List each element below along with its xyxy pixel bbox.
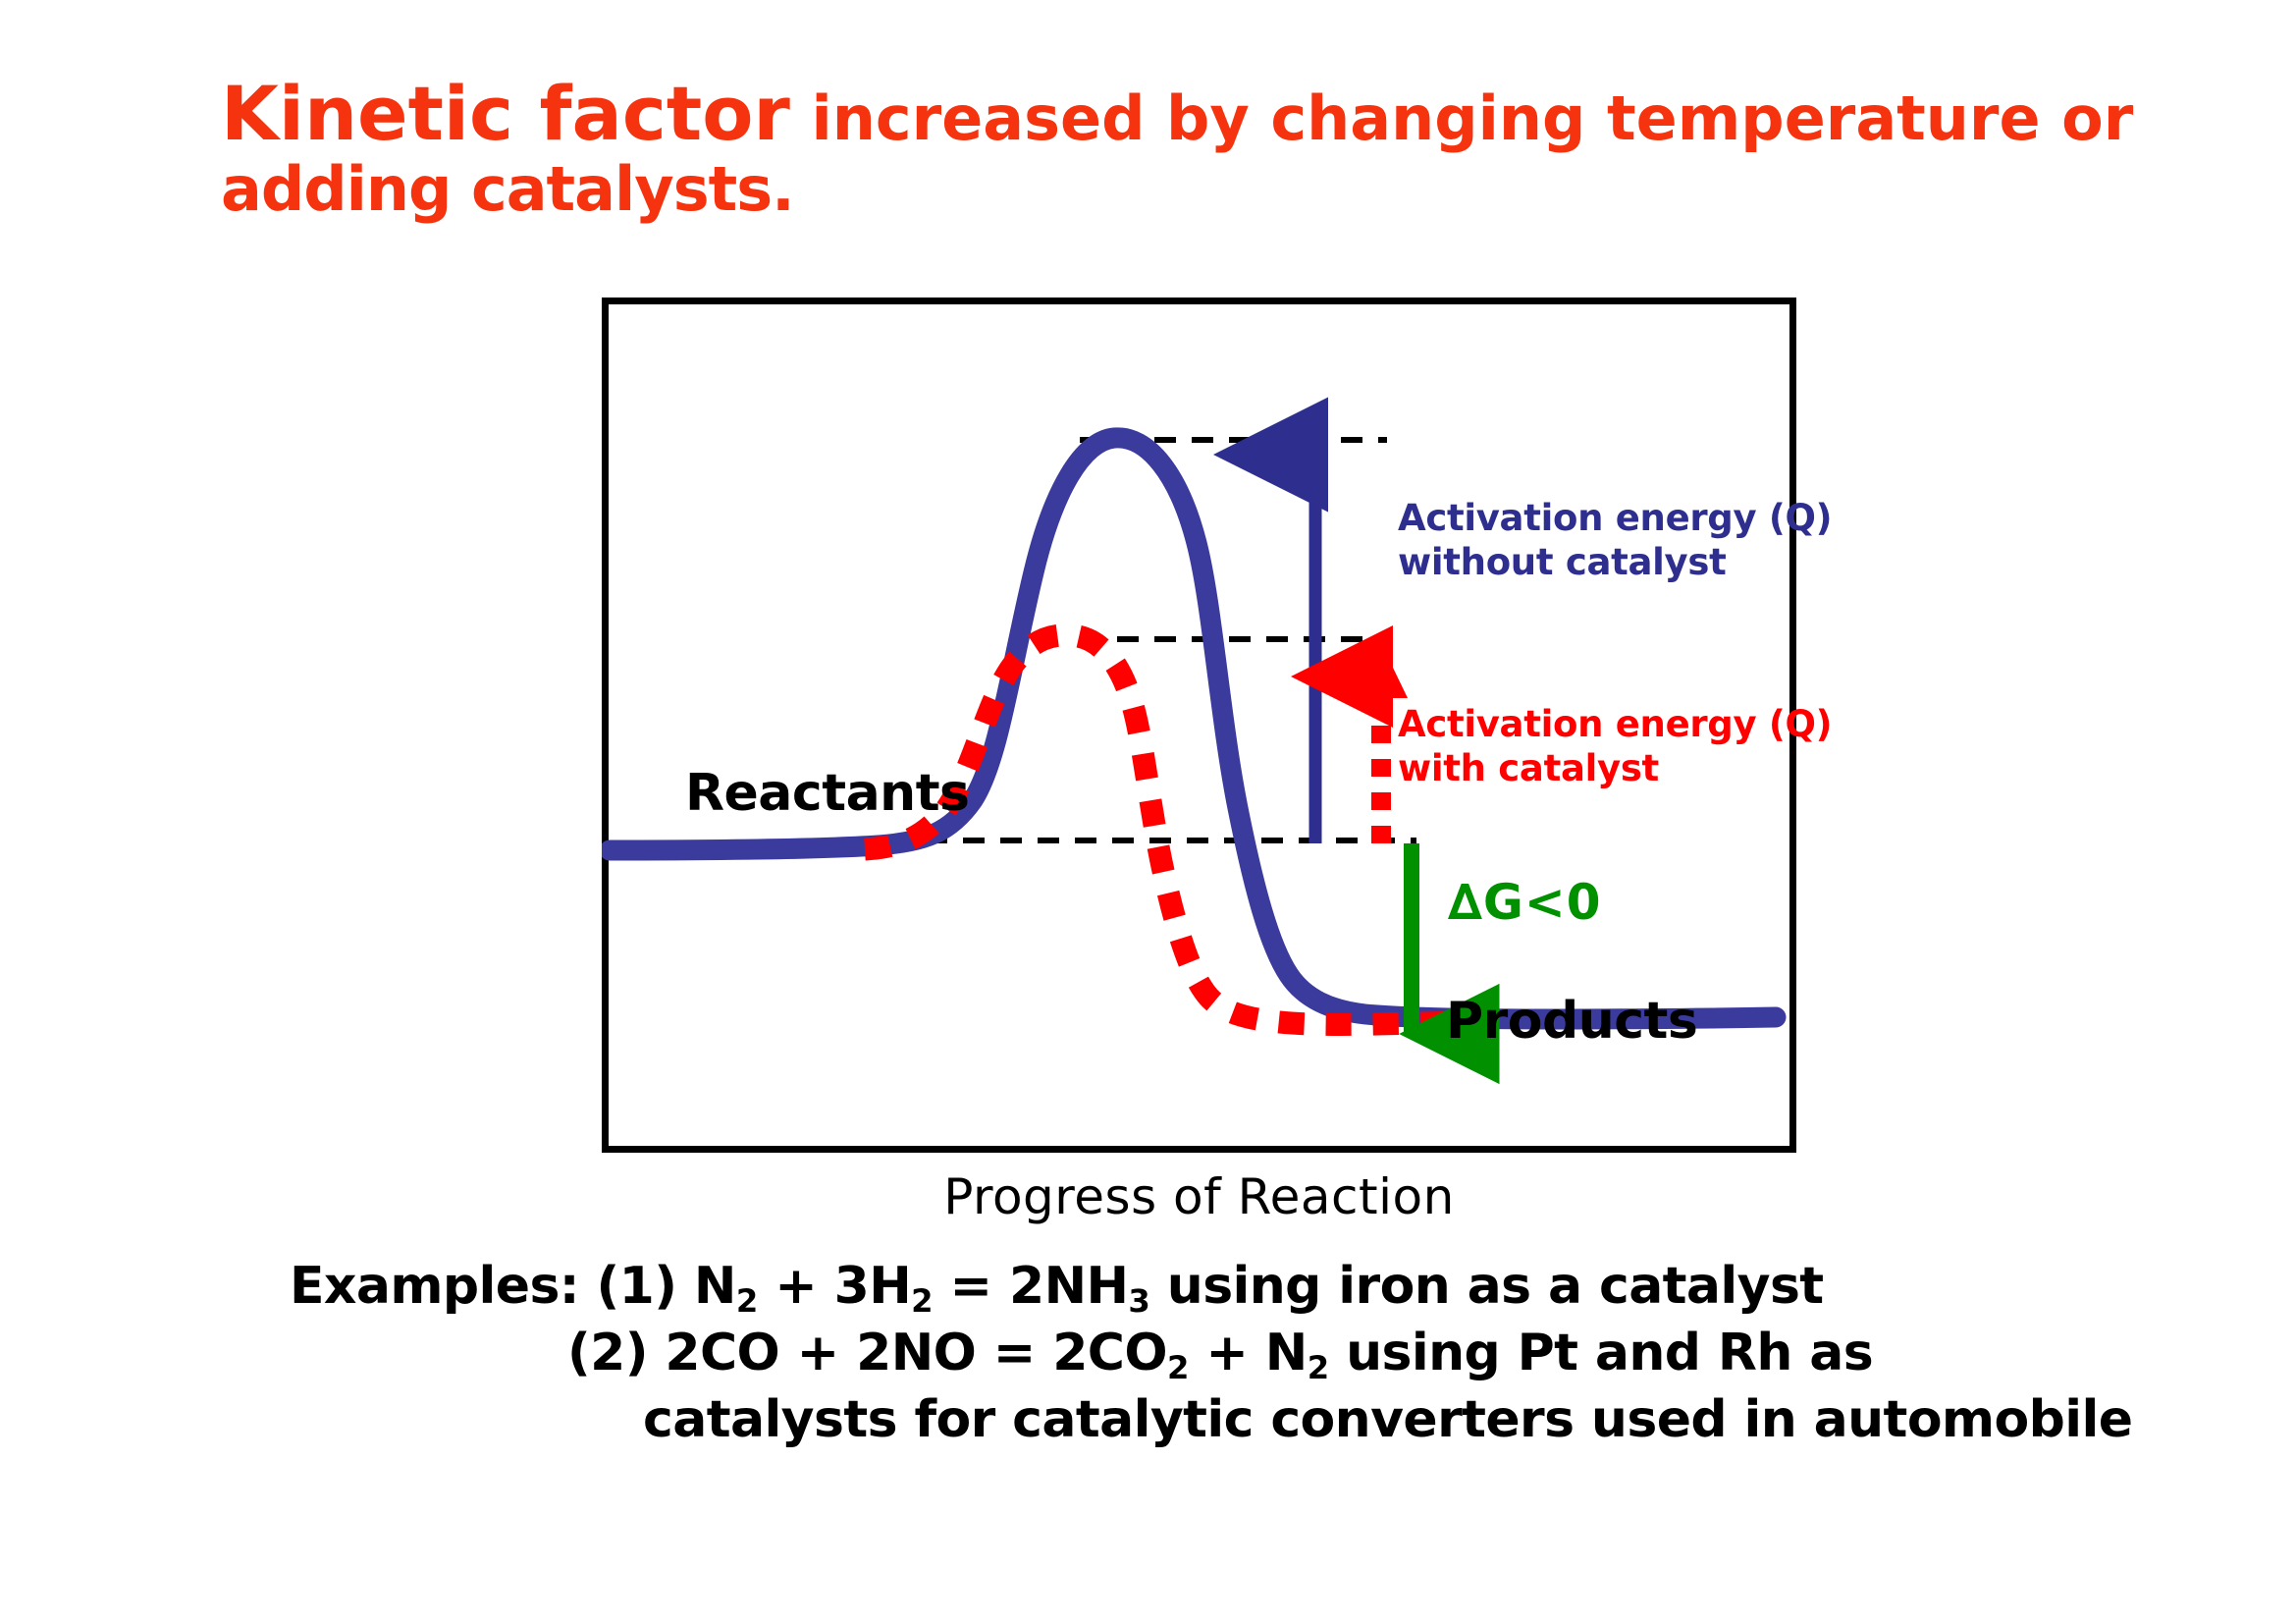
ex1-sub3: 3 <box>1128 1282 1149 1320</box>
ex2-sub2: 2 <box>1308 1349 1329 1386</box>
example-line-3: catalysts for catalytic converters used … <box>0 1388 2296 1451</box>
ex2-sub1: 2 <box>1167 1349 1189 1386</box>
reactants-label: Reactants <box>685 764 970 823</box>
delta-g-label: ∆G<0 <box>1448 874 1602 931</box>
ex1-mid1: + 3H <box>758 1257 911 1316</box>
ex1-mid2: = 2NH <box>933 1257 1128 1316</box>
ex2-mid: + N <box>1189 1324 1308 1382</box>
title-line-1: Kinetic factor increased by changing tem… <box>221 77 2145 151</box>
title-emphasis: Kinetic factor <box>221 70 790 157</box>
products-label: Products <box>1446 992 1697 1051</box>
anno-red-line2: with catalyst <box>1398 746 1832 790</box>
ex1-sub1: 2 <box>736 1282 758 1320</box>
ex2-post: using Pt and Rh as <box>1329 1324 1874 1382</box>
title-line-2: adding catalysts. <box>221 159 2145 220</box>
ex1-post: using iron as a catalyst <box>1149 1257 1823 1316</box>
activation-energy-no-catalyst-label: Activation energy (Q) without catalyst <box>1398 496 1832 584</box>
examples-block: Examples: (1) N2 + 3H2 = 2NH3 using iron… <box>0 1255 2296 1451</box>
anno-red-line1: Activation energy (Q) <box>1398 702 1832 746</box>
ex1-sub2: 2 <box>911 1282 933 1320</box>
slide-title: Kinetic factor increased by changing tem… <box>221 77 2145 220</box>
slide-canvas: Kinetic factor increased by changing tem… <box>0 0 2296 1624</box>
anno-blue-line2: without catalyst <box>1398 540 1832 584</box>
ex1-pre: Examples: (1) N <box>290 1257 736 1316</box>
title-remainder: increased by changing temperature or <box>790 82 2133 154</box>
x-axis-label: Progress of Reaction <box>602 1168 1796 1225</box>
example-line-1: Examples: (1) N2 + 3H2 = 2NH3 using iron… <box>0 1255 2296 1322</box>
activation-energy-with-catalyst-label: Activation energy (Q) with catalyst <box>1398 702 1832 790</box>
activation-energy-with-catalyst-arrowhead <box>1355 643 1408 698</box>
ex2-pre: (2) 2CO + 2NO = 2CO <box>567 1324 1167 1382</box>
anno-blue-line1: Activation energy (Q) <box>1398 496 1832 540</box>
example-line-2: (2) 2CO + 2NO = 2CO2 + N2 using Pt and R… <box>0 1322 2296 1388</box>
